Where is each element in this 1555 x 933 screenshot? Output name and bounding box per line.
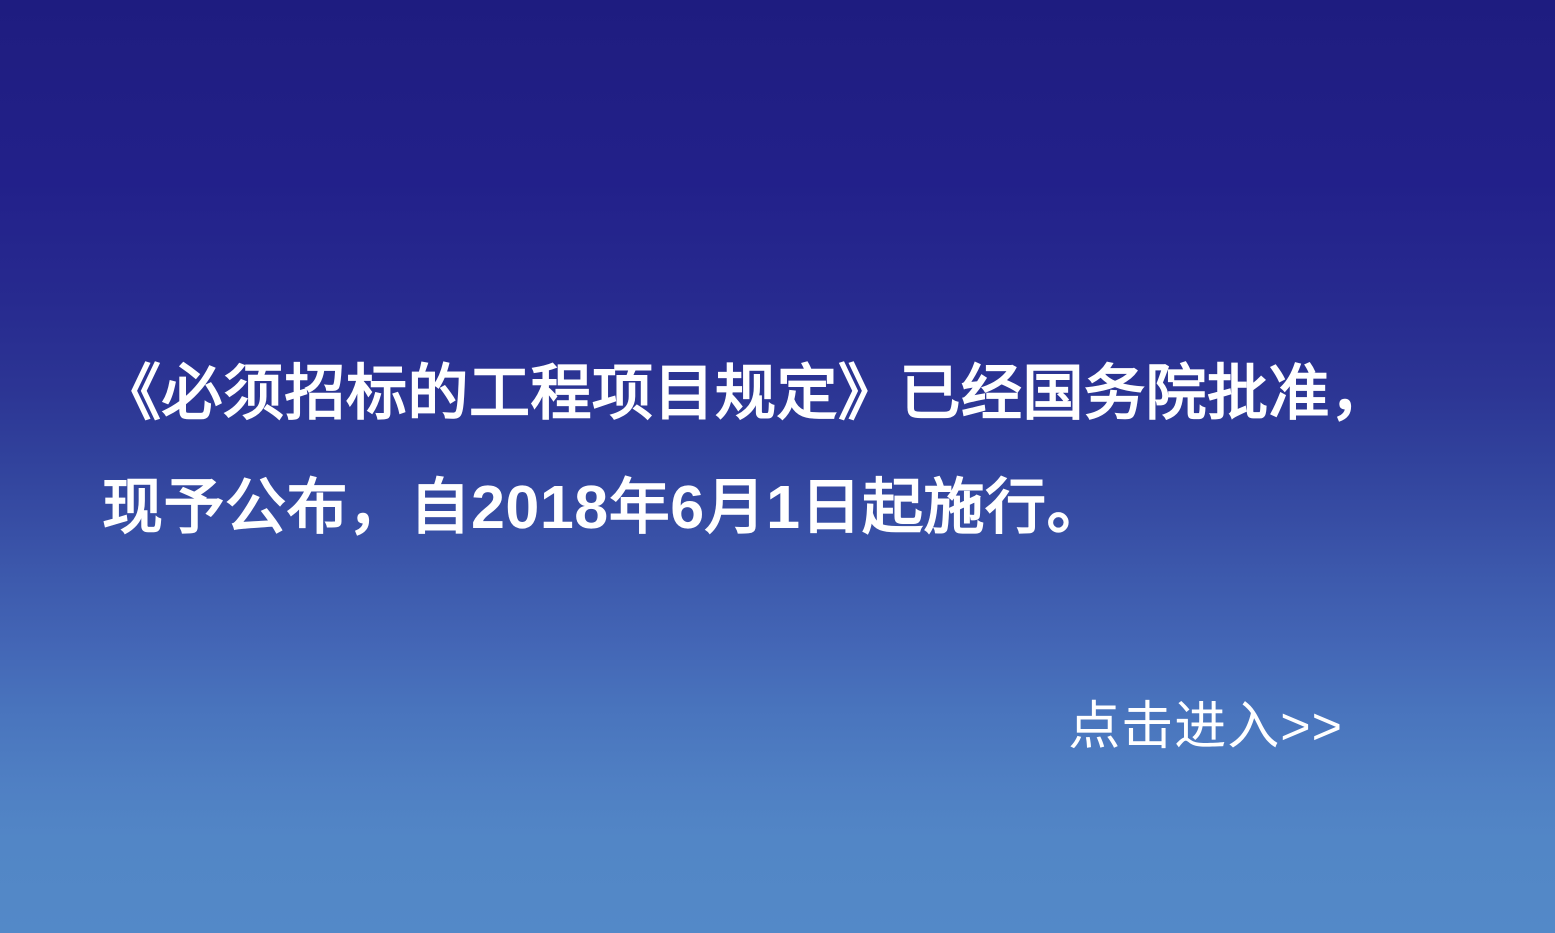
promo-banner: 《必须招标的工程项目规定》已经国务院批准， 现予公布，自2018年6月1日起施行… [0, 0, 1555, 933]
headline-line-1: 《必须招标的工程项目规定》已经国务院批准， [100, 336, 1470, 450]
headline-block: 《必须招标的工程项目规定》已经国务院批准， 现予公布，自2018年6月1日起施行… [100, 336, 1470, 564]
headline-line-2: 现予公布，自2018年6月1日起施行。 [100, 450, 1470, 564]
click-to-enter-link[interactable]: 点击进入>> [1068, 692, 1343, 762]
cta-container: 点击进入>> [0, 692, 1555, 762]
